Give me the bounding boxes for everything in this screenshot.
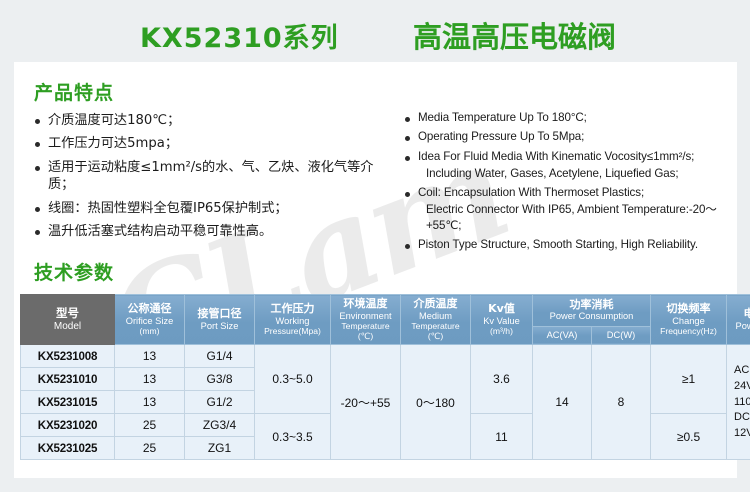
list-item-continuation: Including Water, Gases, Acetylene, Lique… [404,166,734,181]
spec-table: 型号 Model 公称通径 Orifice Size (mm) 接管口径 Por… [20,294,750,460]
col-header-cn: 电源电压 [728,308,750,321]
col-header-medium-temperature: 介质温度 Medium Temperature (℃) [401,295,471,345]
cell-orifice: 13 [115,368,185,391]
cell-port: G1/4 [185,345,255,368]
table-row: KX5231008 13 G1/4 0.3~5.0 -20～+55 0～180 … [21,345,750,368]
col-header-en: Power Consumption [534,311,649,322]
list-item: Operating Pressure Up To 5Mpa; [404,129,734,144]
col-header-unit: (m³/h) [472,327,531,337]
col-subheader-label: AC(VA) [534,330,590,341]
voltage-dc-line-2: 12V [734,426,750,442]
col-header-port-size: 接管口径 Port Size [185,295,255,345]
col-header-en: Orifice Size [116,316,183,327]
col-header-power-consumption: 功率消耗 Power Consumption [533,295,651,327]
col-header-en: Kv Value [472,316,531,327]
col-header-cn: 接管口径 [186,308,253,321]
cell-kv-top: 3.6 [471,345,533,414]
col-header-en: Change [652,316,725,327]
cell-port: G1/2 [185,391,255,414]
cell-working-pressure-top: 0.3~5.0 [255,345,331,414]
cell-environment-temperature: -20～+55 [331,345,401,460]
col-header-cn: 切换频率 [652,303,725,316]
col-header-cn: Kv值 [472,303,531,316]
page-title-product-name: 高温高压电磁阀 [413,14,616,56]
cell-frequency-top: ≥1 [651,345,727,414]
cell-model: KX5231008 [21,345,115,368]
col-header-model: 型号 Model [21,295,115,345]
title-bar: KX52310系列 高温高压电磁阀 [0,0,750,62]
col-header-cn: 公称通径 [116,303,183,316]
col-header-unit: Temperature [402,322,469,332]
col-header-change-frequency: 切换频率 Change Frequency(Hz) [651,295,727,345]
section-heading-features: 产品特点 [34,78,114,105]
feature-list-english: Media Temperature Up To 180°C; Operating… [404,110,734,256]
list-item: 适用于运动粘度≤1mm²/s的水、气、乙炔、液化气等介质； [34,159,399,194]
col-header-unit: Pressure(Mpa) [256,327,329,337]
col-header-en: Medium [402,311,469,322]
col-header-cn: 功率消耗 [534,299,649,312]
col-header-unit2: (℃) [332,332,399,342]
cell-orifice: 13 [115,391,185,414]
cell-model: KX5231025 [21,437,115,460]
cell-model: KX5231015 [21,391,115,414]
col-subheader-label: DC(W) [593,330,649,341]
col-header-unit: Temperature [332,322,399,332]
list-item: Media Temperature Up To 180°C; [404,110,734,125]
section-heading-specs: 技术参数 [34,258,114,285]
col-subheader-power-ac: AC(VA) [533,326,592,345]
cell-model: KX5231020 [21,414,115,437]
voltage-ac-line-2: 24V, 36V [734,379,750,395]
col-header-power-voltage: 电源电压 Power Voltage [727,295,750,345]
spec-table-head: 型号 Model 公称通径 Orifice Size (mm) 接管口径 Por… [21,295,750,345]
cell-orifice: 25 [115,437,185,460]
cell-kv-bottom: 11 [471,414,533,460]
col-subheader-power-dc: DC(W) [592,326,651,345]
list-item: 工作压力可达5mpa； [34,135,399,152]
cell-port: ZG3/4 [185,414,255,437]
cell-working-pressure-bottom: 0.3~3.5 [255,414,331,460]
spec-table-body: KX5231008 13 G1/4 0.3~5.0 -20～+55 0～180 … [21,345,750,460]
list-item: 温升低活塞式结构启动平稳可靠性高。 [34,223,399,240]
list-item: Idea For Fluid Media With Kinematic Voco… [404,149,734,164]
col-header-en: Port Size [186,321,253,332]
voltage-ac-line-3: 110V, 220V [734,395,750,411]
col-header-en: Working [256,316,329,327]
list-item: 线圈：热固性塑料全包覆IP65保护制式； [34,200,399,217]
cell-orifice: 25 [115,414,185,437]
col-header-cn: 型号 [22,307,113,320]
col-header-unit: (mm) [116,327,183,337]
list-item: Coil: Encapsulation With Thermoset Plast… [404,185,734,200]
table-header-row: 型号 Model 公称通径 Orifice Size (mm) 接管口径 Por… [21,295,750,327]
col-header-cn: 工作压力 [256,303,329,316]
col-header-en: Environment [332,311,399,322]
cell-port: G3/8 [185,368,255,391]
cell-frequency-bottom: ≥0.5 [651,414,727,460]
col-header-en: Power Voltage [728,321,750,332]
cell-model: KX5231010 [21,368,115,391]
col-header-working-pressure: 工作压力 Working Pressure(Mpa) [255,295,331,345]
page-title-model-series: KX52310系列 [140,16,339,55]
cell-port: ZG1 [185,437,255,460]
col-header-unit2: (℃) [402,332,469,342]
voltage-dc-line-1: DC: 24V [734,410,750,426]
page-root: KX52310系列 高温高压电磁阀 CLam 产品特点 介质温度可达180℃； … [0,0,750,492]
spec-table-wrapper: 型号 Model 公称通径 Orifice Size (mm) 接管口径 Por… [20,294,731,460]
list-item: Piston Type Structure, Smooth Starting, … [404,237,734,252]
col-header-unit: Frequency(Hz) [652,327,725,337]
col-header-en: Model [22,321,113,333]
content-card: CLam 产品特点 介质温度可达180℃； 工作压力可达5mpa； 适用于运动粘… [14,62,737,478]
cell-orifice: 13 [115,345,185,368]
list-item: 介质温度可达180℃； [34,112,399,129]
cell-power-ac: 14 [533,345,592,460]
col-header-kv-value: Kv值 Kv Value (m³/h) [471,295,533,345]
cell-power-voltage: AC: 50Hz 24V, 36V 110V, 220V DC: 24V 12V [727,345,750,460]
feature-list-chinese: 介质温度可达180℃； 工作压力可达5mpa； 适用于运动粘度≤1mm²/s的水… [34,112,399,247]
col-header-cn: 环境温度 [332,298,399,311]
col-header-orifice-size: 公称通径 Orifice Size (mm) [115,295,185,345]
col-header-cn: 介质温度 [402,298,469,311]
voltage-ac-line-1: AC: 50Hz [734,363,750,379]
cell-power-dc: 8 [592,345,651,460]
list-item-continuation: Electric Connector With IP65, Ambient Te… [404,202,734,233]
col-header-environment-temperature: 环境温度 Environment Temperature (℃) [331,295,401,345]
cell-medium-temperature: 0～180 [401,345,471,460]
